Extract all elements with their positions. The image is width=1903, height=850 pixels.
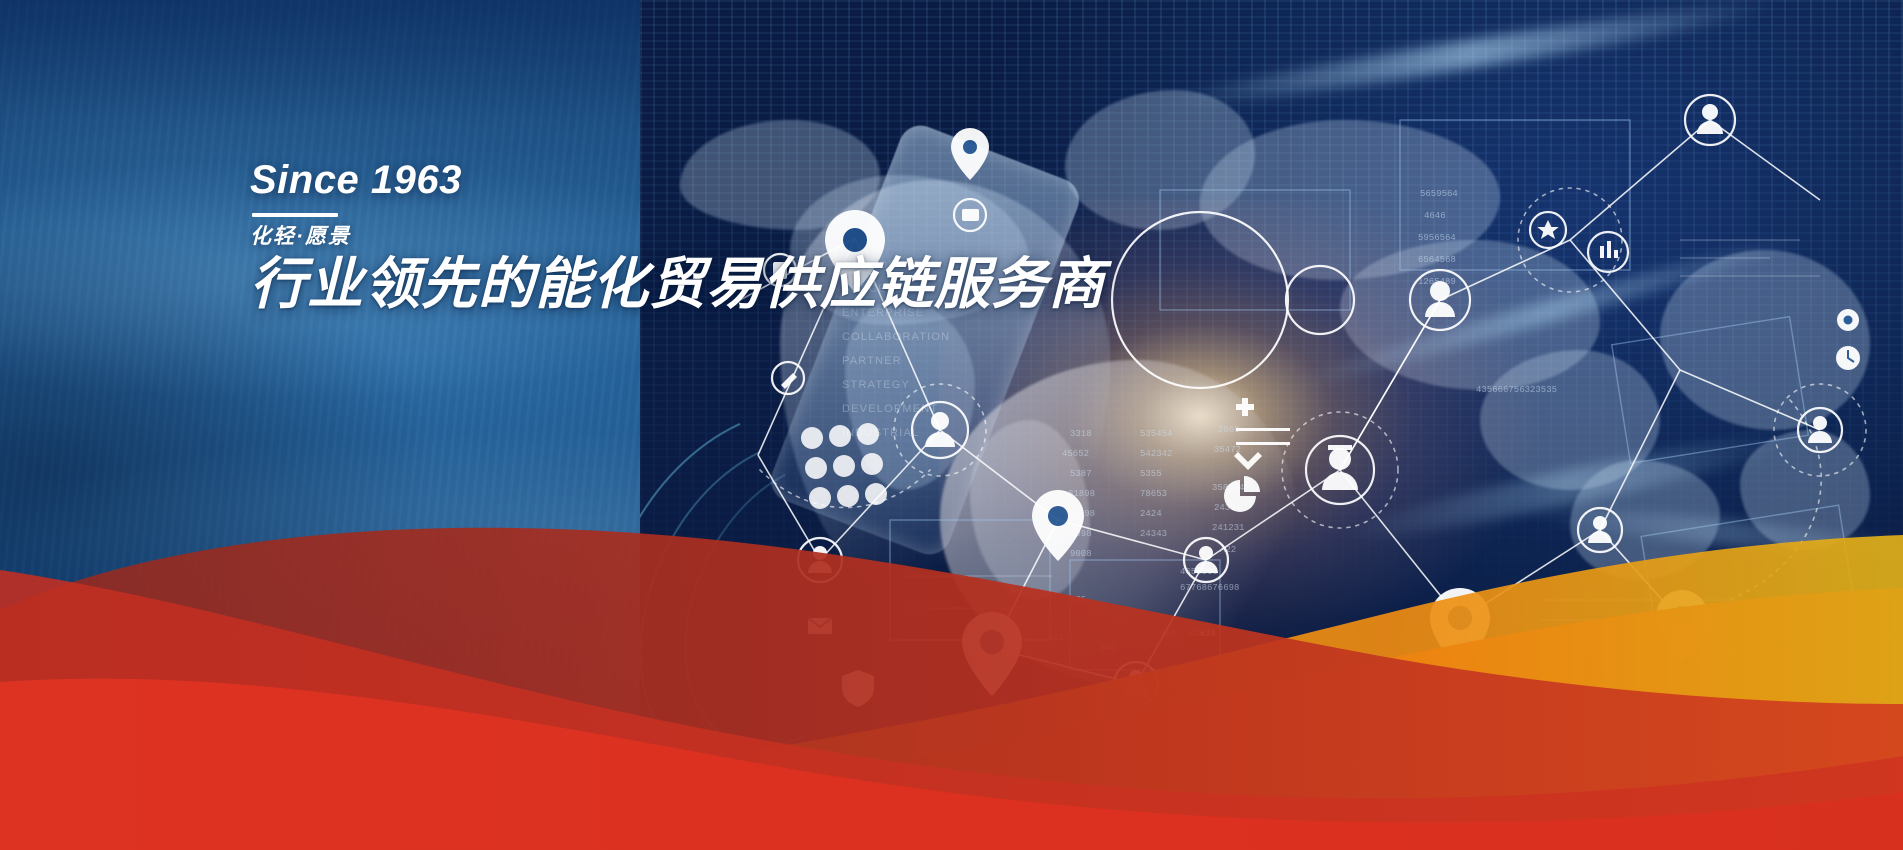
divider-rule (252, 213, 338, 217)
svg-text:435666756323535: 435666756323535 (1476, 385, 1557, 395)
svg-text:5659564: 5659564 (1420, 189, 1458, 199)
user-icon (1685, 95, 1735, 145)
established-label: Since 1963 (250, 160, 1010, 200)
svg-text:4646: 4646 (1424, 211, 1446, 221)
lens-circle-icon (1112, 212, 1288, 388)
star-icon (1530, 212, 1566, 248)
clock-icon (1836, 346, 1860, 370)
svg-text:5956564: 5956564 (1418, 233, 1456, 243)
hero-headline: 行业领先的能化贸易供应链服务商 (250, 251, 1010, 317)
gear-icon (1837, 309, 1859, 331)
hero-subtitle: 化轻·愿景 (250, 225, 1010, 249)
hero-text-block: Since 1963 化轻·愿景 行业领先的能化贸易供应链服务商 (250, 160, 1010, 317)
svg-text:6564568: 6564568 (1418, 255, 1456, 265)
color-wave-decoration (0, 420, 1903, 850)
svg-text:STRATEGY: STRATEGY (842, 379, 910, 391)
svg-text:PARTNER: PARTNER (842, 355, 902, 367)
chart-bar-icon (1588, 232, 1628, 272)
svg-text:DEVELOPMENT: DEVELOPMENT (842, 403, 938, 415)
hero-banner: CORPORATE SUCCESS ENTERPRISE COLLABORATI… (0, 0, 1903, 850)
